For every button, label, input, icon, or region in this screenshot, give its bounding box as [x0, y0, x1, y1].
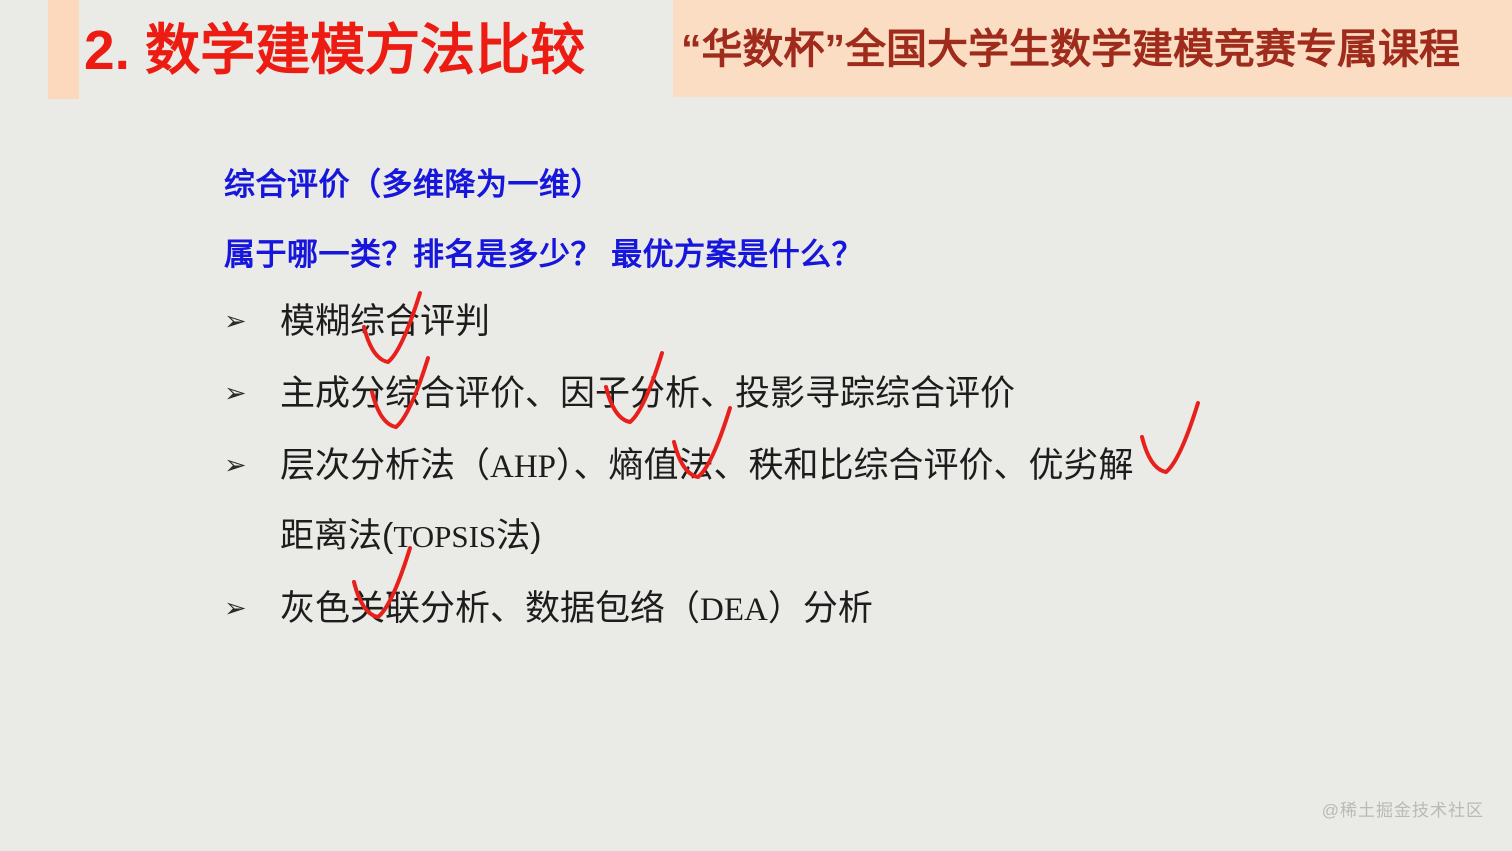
list-item-label: 主成分综合评价、因子分析、投影寻踪综合评价 [280, 366, 1454, 421]
lead-heading-2: 属于哪一类？排名是多少？ 最优方案是什么？ [224, 229, 863, 274]
slide-canvas: 2. 数学建模方法比较 “华数杯”全国大学生数学建模竞赛专属课程 综合评价（多维… [0, 0, 1512, 851]
arrow-bullet-icon: ➢ [224, 581, 280, 636]
list-item: ➢ 灰色关联分析、数据包络（DEA）分析 [224, 581, 1454, 639]
continuation-text-post: 法) [496, 517, 541, 555]
list-item-text-post: ）分析 [768, 589, 873, 628]
continuation-acronym-topsis: TOPSIS [393, 519, 496, 554]
list-item-text-pre: 灰色关联分析、数据包络（ [280, 589, 700, 628]
header-left-accent-bar [48, 0, 79, 99]
list-item: ➢ 主成分综合评价、因子分析、投影寻踪综合评价 [224, 366, 1454, 424]
list-item-label: 层次分析法（AHP）、熵值法、秩和比综合评价、优劣解 [280, 438, 1454, 495]
watermark-label: @稀土掘金技术社区 [1322, 796, 1484, 821]
method-bullet-list: ➢ 模糊综合评判 ➢ 主成分综合评价、因子分析、投影寻踪综合评价 ➢ 层次分析法… [224, 294, 1454, 653]
slide-body: 综合评价（多维降为一维） 属于哪一类？排名是多少？ 最优方案是什么？ ➢ 模糊综… [0, 99, 1512, 851]
slide-header: 2. 数学建模方法比较 “华数杯”全国大学生数学建模竞赛专属课程 [0, 0, 1512, 99]
list-item-label: 灰色关联分析、数据包络（DEA）分析 [280, 581, 1454, 638]
continuation-text-pre: 距离法( [280, 517, 393, 555]
list-item-acronym-dea: DEA [700, 592, 768, 628]
list-item-continuation: 距离法(TOPSIS法) [280, 510, 1454, 563]
list-item: ➢ 模糊综合评判 [224, 294, 1454, 352]
lead-heading-1: 综合评价（多维降为一维） [224, 159, 602, 204]
list-item-text-pre: 层次分析法（ [280, 446, 490, 485]
header-subtitle: “华数杯”全国大学生数学建模竞赛专属课程 [681, 12, 1512, 88]
list-item-text-post: ）、熵值法、秩和比综合评价、优劣解 [556, 446, 1134, 485]
list-item-label: 模糊综合评判 [280, 294, 1454, 349]
page-title: 2. 数学建模方法比较 [84, 11, 664, 91]
arrow-bullet-icon: ➢ [224, 366, 280, 421]
arrow-bullet-icon: ➢ [224, 438, 280, 493]
list-item: ➢ 层次分析法（AHP）、熵值法、秩和比综合评价、优劣解 距离法(TOPSIS法… [224, 438, 1454, 563]
arrow-bullet-icon: ➢ [224, 294, 280, 349]
list-item-acronym-ahp: AHP [490, 449, 556, 485]
